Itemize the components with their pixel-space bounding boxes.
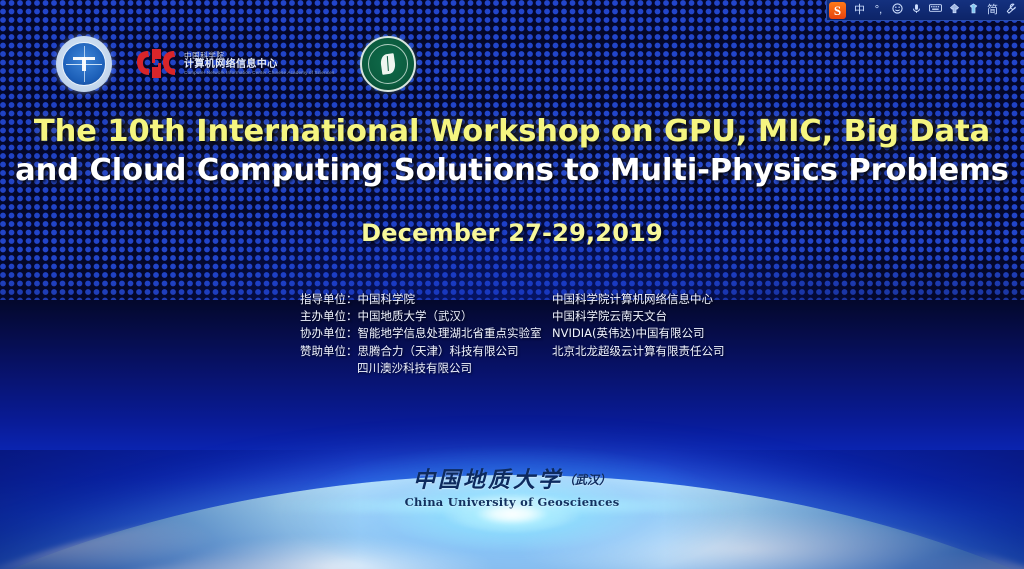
organizer-left-3: 赞助单位：思腾合力（天津）科技有限公司	[300, 343, 552, 360]
organizer-left-0: 指导单位：中国科学院	[300, 291, 552, 308]
organizer-list: 指导单位：中国科学院 中国科学院计算机网络信息中心 主办单位：中国地质大学（武汉…	[300, 291, 725, 377]
university-name-cn-paren: （武汉）	[563, 473, 611, 487]
conference-date: December 27-29,2019	[0, 219, 1024, 247]
simplified-traditional-toggle[interactable]: 简	[984, 1, 1001, 19]
organizer-right-0: 中国科学院计算机网络信息中心	[552, 291, 725, 308]
settings-wrench-icon[interactable]	[1003, 1, 1020, 19]
organizer-right-4	[552, 360, 725, 377]
organizer-left-2: 协办单位：智能地学信息处理湖北省重点实验室	[300, 325, 552, 342]
sponsor-logos: 中国科学院 计算机网络信息中心 Computer Network Informa…	[56, 36, 416, 92]
skin-icon[interactable]	[946, 1, 963, 19]
green-leaf-emblem-icon	[360, 36, 416, 92]
soft-keyboard-icon[interactable]	[927, 1, 944, 19]
sogou-logo-icon[interactable]: S	[829, 2, 846, 19]
voice-input-icon[interactable]	[908, 1, 925, 19]
sogou-input-method-toolbar[interactable]: S 中 °, 简	[826, 0, 1024, 21]
page-title: The 10th International Workshop on GPU, …	[0, 112, 1024, 190]
title-line-1: The 10th International Workshop on GPU, …	[0, 112, 1024, 151]
cnic-mark-icon	[134, 47, 178, 81]
cug-emblem-icon	[56, 36, 112, 92]
punctuation-toggle[interactable]: °,	[870, 1, 887, 19]
cnic-line-2: 计算机网络信息中心	[184, 60, 334, 71]
cnic-cas-logo: 中国科学院 计算机网络信息中心 Computer Network Informa…	[134, 47, 334, 81]
conference-poster: S 中 °, 简	[0, 0, 1024, 569]
university-name-en: China University of Geosciences	[0, 495, 1024, 509]
organizer-right-3: 北京北龙超级云计算有限责任公司	[552, 343, 725, 360]
organizer-left-4: 四川澳沙科技有限公司	[300, 360, 552, 377]
language-mode-toggle[interactable]: 中	[851, 1, 868, 19]
organizer-left-1: 主办单位：中国地质大学（武汉）	[300, 308, 552, 325]
organizer-right-1: 中国科学院云南天文台	[552, 308, 725, 325]
organizer-right-2: NVIDIA(英伟达)中国有限公司	[552, 325, 725, 342]
cnic-logo-text: 中国科学院 计算机网络信息中心 Computer Network Informa…	[184, 52, 334, 77]
university-wordmark: 中国地质大学（武汉） China University of Geoscienc…	[0, 462, 1024, 509]
emoji-icon[interactable]	[889, 1, 906, 19]
university-name-cn-main: 中国地质大学	[413, 467, 563, 493]
toolbox-icon[interactable]	[965, 1, 982, 19]
title-line-2: and Cloud Computing Solutions to Multi-P…	[0, 151, 1024, 190]
cnic-line-3: Computer Network Information Center Chin…	[184, 71, 334, 76]
university-name-cn: 中国地质大学（武汉）	[0, 462, 1024, 494]
